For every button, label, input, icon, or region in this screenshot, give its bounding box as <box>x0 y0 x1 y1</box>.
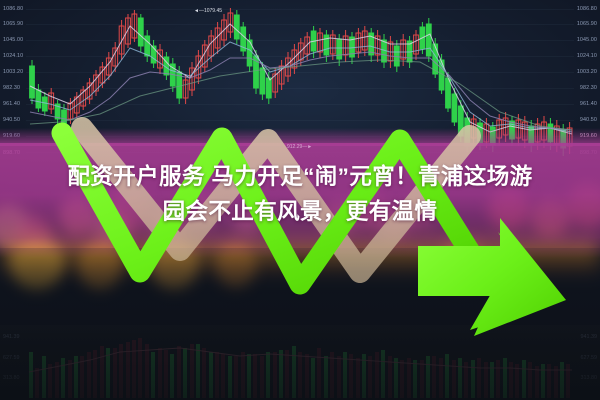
dark-vignette <box>0 248 600 400</box>
headline-text: 配资开户服务 马力开足“闹”元宵！青浦这场游 园会不止有风景，更有温情 <box>0 160 600 230</box>
low-price-annotation: 912.29—► <box>287 144 312 150</box>
screenshot-root: 1086.80 1065.90 1045.00 1024.10 1003.20 … <box>0 0 600 400</box>
headline-line-1: 配资开户服务 马力开足“闹”元宵！青浦这场游 <box>67 164 532 189</box>
headline-line-2: 园会不止有风景，更有温情 <box>0 195 600 230</box>
high-price-annotation: ◄—1079.45 <box>194 8 222 14</box>
